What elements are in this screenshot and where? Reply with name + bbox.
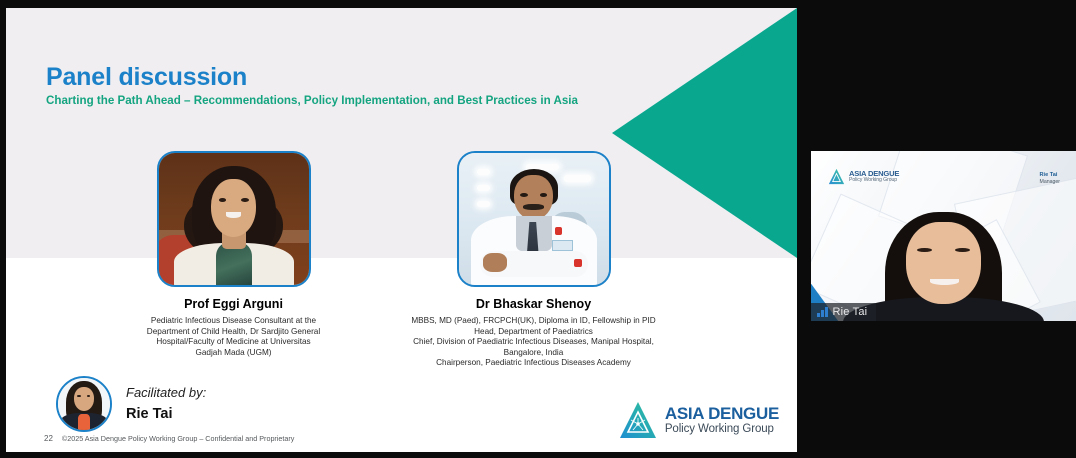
microphone-signal-bars-icon xyxy=(817,307,828,317)
facilitated-by-label: Facilitated by: xyxy=(126,385,206,401)
panelist-description-0: Pediatric Infectious Disease Consultant … xyxy=(61,316,406,358)
facilitator-block: Facilitated by: Rie Tai xyxy=(56,376,206,432)
brand-text: ASIA DENGUE Policy Working Group xyxy=(665,405,779,436)
participant-name: Rie Tai xyxy=(833,306,868,318)
virtual-background-logo: ASIA DENGUE Policy Working Group xyxy=(828,168,899,185)
participant-name-badge: Rie Tai xyxy=(811,303,876,321)
facilitator-text: Facilitated by: Rie Tai xyxy=(126,385,206,422)
panelist-description-1: MBBS, MD (Paed), FRCPCH(UK), Diploma in … xyxy=(361,316,706,369)
panelist-card-0: Prof Eggi Arguni Pediatric Infectious Di… xyxy=(61,151,406,358)
brand-name: ASIA DENGUE xyxy=(665,405,779,423)
facilitator-name: Rie Tai xyxy=(126,405,206,423)
virtual-background-name-card: Rie Tai Manager xyxy=(1040,171,1060,187)
asia-dengue-logo: ASIA DENGUE Policy Working Group xyxy=(618,400,779,440)
avatar xyxy=(56,376,112,432)
virtual-background-brand-tagline: Policy Working Group xyxy=(849,178,899,183)
virtual-background-person-name: Rie Tai xyxy=(1040,171,1060,179)
page-title: Panel discussion xyxy=(46,64,586,90)
brand-tagline: Policy Working Group xyxy=(665,423,779,435)
panelist-card-1: Dr Bhaskar Shenoy MBBS, MD (Paed), FRCPC… xyxy=(361,151,706,369)
virtual-background-person-role: Manager xyxy=(1040,179,1060,187)
asia-dengue-triangle-icon xyxy=(618,400,658,440)
asia-dengue-triangle-icon xyxy=(828,168,845,185)
slide-footer: 22 ©2025 Asia Dengue Policy Working Grou… xyxy=(44,434,294,443)
panelist-photo-0 xyxy=(157,151,311,287)
participant-video-tile[interactable]: ASIA DENGUE Policy Working Group Rie Tai… xyxy=(811,151,1076,321)
virtual-background-logo-text: ASIA DENGUE Policy Working Group xyxy=(849,170,899,183)
panelist-name-1: Dr Bhaskar Shenoy xyxy=(361,297,706,312)
copyright-notice: ©2025 Asia Dengue Policy Working Group –… xyxy=(62,434,295,443)
presentation-slide: Panel discussion Charting the Path Ahead… xyxy=(6,8,797,452)
slide-title-block: Panel discussion Charting the Path Ahead… xyxy=(46,64,586,109)
panelist-photo-1 xyxy=(457,151,611,287)
panelist-name-0: Prof Eggi Arguni xyxy=(61,297,406,312)
screen-share-stage: Panel discussion Charting the Path Ahead… xyxy=(0,0,1076,458)
page-subtitle: Charting the Path Ahead – Recommendation… xyxy=(46,93,586,108)
slide-number: 22 xyxy=(44,434,53,443)
